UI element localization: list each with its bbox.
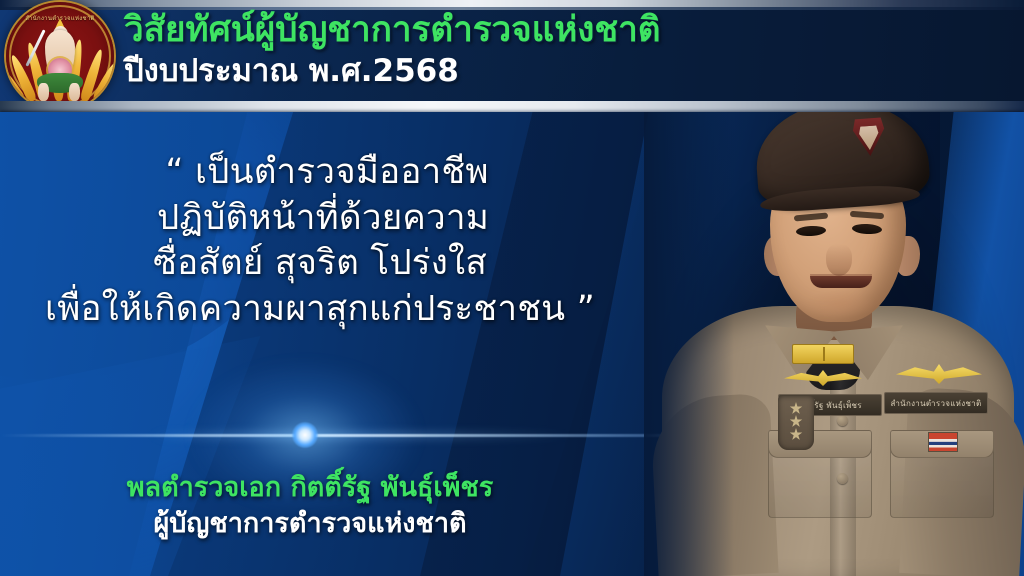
thai-flag-patch-icon	[928, 432, 958, 452]
rank-star-icon-1	[790, 402, 803, 415]
chin-highlight	[804, 290, 876, 318]
officer-name: พลตำรวจเอก กิตติ์รัฐ พันธุ์เพ็ชร	[0, 472, 620, 505]
uniform-unit-patch-text: สำนักงานตำรวจแห่งชาติ	[885, 393, 987, 413]
vision-quote: “ เป็นตำรวจมืออาชีพ ปฏิบัติหน้าที่ด้วยคว…	[0, 150, 640, 332]
signature-block: พลตำรวจเอก กิตติ์รัฐ พันธุ์เพ็ชร ผู้บัญช…	[0, 472, 620, 541]
vision-quote-line-3: ซื่อสัตย์ สุจริต โปร่งใส	[0, 241, 640, 287]
page-subtitle: ปีงบประมาณ พ.ศ.2568	[124, 53, 1004, 90]
vision-quote-line-4: เพื่อให้เกิดความผาสุกแก่ประชาชน ”	[0, 287, 640, 333]
vision-quote-line-2: ปฏิบัติหน้าที่ด้วยความ	[0, 196, 640, 242]
uniform-button-upper	[837, 415, 848, 426]
header-top-silver-strip	[0, 0, 1024, 7]
nose	[826, 244, 852, 276]
emblem-caption: สำนักงานตำรวจแห่งชาติ	[10, 13, 109, 23]
vision-banner: กิตติ์รัฐ พันธุ์เพ็ชร สำนักงานตำรวจแห่งช…	[0, 0, 1024, 576]
portrait: กิตติ์รัฐ พันธุ์เพ็ชร สำนักงานตำรวจแห่งช…	[644, 76, 1024, 576]
gold-rank-bars-icon	[792, 344, 854, 364]
mouth	[810, 276, 872, 288]
header-titles: วิสัยทัศน์ผู้บัญชาการตำรวจแห่งชาติ ปีงบป…	[124, 10, 1004, 90]
lens-flare-core	[292, 422, 318, 448]
shoulder-rank-board	[778, 396, 814, 450]
officer-role: ผู้บัญชาการตำรวจแห่งชาติ	[0, 508, 620, 541]
portrait-edge-fade	[644, 76, 734, 576]
uniform-unit-patch: สำนักงานตำรวจแห่งชาติ	[884, 392, 988, 414]
header-divider-shadow	[0, 111, 1024, 112]
royal-thai-police-emblem-icon: สำนักงานตำรวจแห่งชาติ	[6, 2, 114, 110]
header-band: สำนักงานตำรวจแห่งชาติ วิสัยทัศน์ผู้บัญชา…	[0, 0, 1024, 112]
rank-star-icon-3	[790, 428, 803, 441]
vision-quote-line-1: “ เป็นตำรวจมืออาชีพ	[0, 150, 640, 196]
rank-star-icon-2	[790, 415, 803, 428]
page-title: วิสัยทัศน์ผู้บัญชาการตำรวจแห่งชาติ	[124, 10, 1004, 51]
